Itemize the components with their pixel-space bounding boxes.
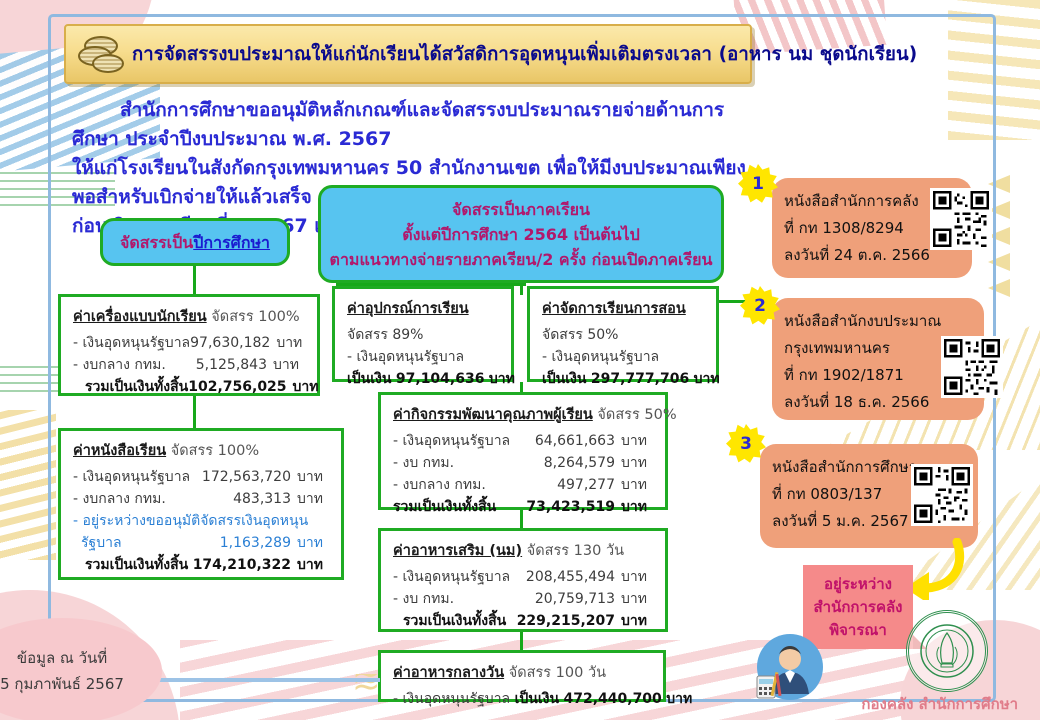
total-amount: 97,104,636 (396, 371, 485, 387)
table-row: - งบกลาง กทม. 497,277 บาท (393, 474, 655, 496)
qr-code-icon (933, 191, 989, 247)
qr-code-icon[interactable] (911, 464, 973, 526)
row-unit: บาท (615, 452, 655, 474)
box-activity[interactable]: ค่ากิจกรรมพัฒนาคุณภาพผู้เรียน จัดสรร 50%… (378, 392, 668, 510)
total-label: เป็นเงิน (347, 371, 391, 387)
box-equipment-header: ค่าอุปกรณ์การเรียน (347, 297, 501, 320)
row-amount: 174,210,322 (193, 554, 291, 576)
branch-left-label: จัดสรรเป็นปีการศึกษา (120, 230, 270, 255)
table-row: - งบกลาง กทม. 5,125,843 บาท (73, 354, 307, 376)
reference-2-lines: หนังสือสำนักงบประมาณ กรุงเทพมหานคร ที่ ก… (784, 308, 941, 416)
total-unit: บาท (694, 371, 720, 387)
total-label: เป็นเงิน (542, 371, 586, 387)
branch-right-line-1: จัดสรรเป็นภาคเรียน (452, 197, 590, 222)
branch-left-pre: จัดสรรเป็น (120, 233, 193, 252)
row-unit: บาท (291, 554, 331, 576)
table-row-total: รวมเป็นเงินทั้งสิ้น 102,756,025 บาท (73, 376, 307, 398)
table-row-total: รวมเป็นเงินทั้งสิ้น 229,215,207 บาท (393, 610, 655, 632)
callout-line-3: พิจารณา (829, 619, 887, 642)
box-milk-header: ค่าอาหารเสริม (นม) จัดสรร 130 วัน (393, 539, 655, 562)
row-amount: 483,313 (233, 488, 291, 510)
footer-org: กองคลัง สำนักการศึกษา (861, 692, 1018, 716)
row-label: - งบ กทม. (393, 452, 454, 474)
row-label: รวมเป็นเงินทั้งสิ้น (73, 554, 188, 576)
bangkok-seal-icon (906, 610, 988, 692)
table-row-pending-amount: รัฐบาล 1,163,289 บาท (73, 532, 331, 554)
badge-3: 3 (726, 424, 766, 464)
row-unit: บาท (615, 474, 655, 496)
row-amount: 497,277 (557, 474, 615, 496)
box-uniform-pct: จัดสรร 100% (211, 309, 299, 325)
table-row-pending: - อยู่ระหว่างขออนุมัติจัดสรรเงินอุดหนุน (73, 510, 331, 532)
row-label: - อยู่ระหว่างขออนุมัติจัดสรรเงินอุดหนุน (73, 510, 308, 532)
row-unit: บาท (615, 610, 655, 632)
row-unit: บาท (287, 376, 319, 398)
box-teaching-total: เป็นเงิน 297,777,706 บาท (542, 368, 706, 390)
reference-1-line-1: หนังสือสำนักการคลัง (784, 188, 930, 215)
row-unit: บาท (615, 430, 655, 452)
reference-2-line-1: หนังสือสำนักงบประมาณ (784, 308, 941, 335)
box-equipment[interactable]: ค่าอุปกรณ์การเรียน จัดสรร 89% - เงินอุดห… (332, 286, 514, 382)
title-banner: การจัดสรรงบประมาณให้แก่นักเรียนได้สวัสดิ… (64, 24, 752, 84)
box-equipment-title: ค่าอุปกรณ์การเรียน (347, 301, 469, 317)
box-lunch-source: - เงินอุดหนุนรัฐบาล (393, 691, 510, 707)
badge-1: 1 (738, 164, 778, 204)
box-uniform-title: ค่าเครื่องแบบนักเรียน (73, 309, 207, 325)
table-row: - เงินอุดหนุนรัฐบาล 208,455,494 บาท (393, 566, 655, 588)
reference-card-2[interactable]: หนังสือสำนักงบประมาณ กรุงเทพมหานคร ที่ ก… (772, 298, 984, 420)
table-row-total: รวมเป็นเงินทั้งสิ้น 73,423,519 บาท (393, 496, 655, 518)
box-lunch-pct: จัดสรร 100 วัน (509, 665, 606, 681)
box-teaching-source: - เงินอุดหนุนรัฐบาล (542, 346, 706, 368)
row-amount: 229,215,207 (517, 610, 615, 632)
qr-code-icon[interactable] (930, 188, 992, 250)
box-teaching-pct: จัดสรร 50% (542, 324, 706, 346)
row-label: - เงินอุดหนุนรัฐบาล (73, 466, 190, 488)
reference-1-lines: หนังสือสำนักการคลัง ที่ กท 1308/8294 ลงว… (784, 188, 930, 269)
reference-2-line-2: กรุงเทพมหานคร (784, 335, 941, 362)
box-books-title: ค่าหนังสือเรียน (73, 443, 166, 459)
total-unit: บาท (489, 371, 515, 387)
branch-right-line-2: ตั้งแต่ปีการศึกษา 2564 เป็นต้นไป (402, 222, 639, 247)
row-amount: 8,264,579 (544, 452, 615, 474)
row-label: รวมเป็นเงินทั้งสิ้น (393, 496, 496, 518)
box-milk[interactable]: ค่าอาหารเสริม (นม) จัดสรร 130 วัน - เงิน… (378, 528, 668, 632)
box-lunch-title: ค่าอาหารกลางวัน (393, 665, 504, 681)
branch-right-line-3: ตามแนวทางจ่ายรายภาคเรียน/2 ครั้ง ก่อนเปิ… (330, 247, 713, 272)
reference-1-line-2: ที่ กท 1308/8294 (784, 215, 930, 242)
total-amount: 297,777,706 (591, 371, 689, 387)
row-label: - เงินอุดหนุนรัฐบาล (393, 430, 510, 452)
row-label: - งบกลาง กทม. (73, 488, 166, 510)
box-lunch[interactable]: ค่าอาหารกลางวัน จัดสรร 100 วัน - เงินอุด… (378, 650, 666, 702)
badge-2: 2 (740, 286, 780, 326)
table-row: - งบกลาง กทม. 483,313 บาท (73, 488, 331, 510)
decor-blue-rule (150, 678, 380, 682)
row-unit: บาท (270, 332, 307, 354)
total-unit: บาท (666, 691, 692, 707)
box-books[interactable]: ค่าหนังสือเรียน จัดสรร 100% - เงินอุดหนุ… (58, 428, 344, 580)
qr-code-icon (944, 339, 1000, 395)
table-row: - งบ กทม. 8,264,579 บาท (393, 452, 655, 474)
date-value: 5 กุมภาพันธ์ 2567 (0, 671, 124, 697)
intro-line-1: สำนักการศึกษาขออนุมัติหลักเกณฑ์และจัดสรร… (72, 96, 752, 154)
qr-code-icon (914, 467, 970, 523)
box-activity-pct: จัดสรร 50% (597, 407, 676, 423)
box-activity-header: ค่ากิจกรรมพัฒนาคุณภาพผู้เรียน จัดสรร 50% (393, 403, 655, 426)
table-row: - เงินอุดหนุนรัฐบาล 172,563,720 บาท (73, 466, 331, 488)
box-teaching[interactable]: ค่าจัดการเรียนการสอน จัดสรร 50% - เงินอุ… (527, 286, 719, 382)
connector-left-books (193, 396, 196, 428)
box-teaching-title: ค่าจัดการเรียนการสอน (542, 301, 686, 317)
branch-left-year[interactable]: จัดสรรเป็นปีการศึกษา (100, 218, 290, 266)
row-amount: 102,756,025 (188, 376, 286, 398)
row-amount: 97,630,182 (190, 332, 270, 354)
box-lunch-header: ค่าอาหารกลางวัน จัดสรร 100 วัน (393, 661, 653, 684)
box-uniform-header: ค่าเครื่องแบบนักเรียน จัดสรร 100% (73, 305, 307, 328)
date-label: ข้อมูล ณ วันที่ (17, 645, 107, 671)
branch-left-link: ปีการศึกษา (193, 233, 270, 252)
row-unit: บาท (267, 354, 307, 376)
row-label: - งบกลาง กทม. (393, 474, 486, 496)
badge-number: 1 (738, 164, 778, 204)
branch-right-semester[interactable]: จัดสรรเป็นภาคเรียน ตั้งแต่ปีการศึกษา 256… (318, 185, 724, 283)
box-teaching-header: ค่าจัดการเรียนการสอน (542, 297, 706, 320)
box-equipment-total: เป็นเงิน 97,104,636 บาท (347, 368, 501, 390)
row-label: รวมเป็นเงินทั้งสิ้น (73, 376, 188, 398)
box-lunch-total: - เงินอุดหนุนรัฐบาล เป็นเงิน 472,440,700… (393, 688, 653, 710)
row-unit: บาท (291, 466, 331, 488)
row-amount: 20,759,713 (535, 588, 615, 610)
page-title: การจัดสรรงบประมาณให้แก่นักเรียนได้สวัสดิ… (132, 40, 917, 69)
infographic-canvas: ≋≋≋ การจัดสรรงบประมาณให้แก่นักเรียนได้สว… (0, 0, 1040, 720)
row-amount: 208,455,494 (526, 566, 615, 588)
reference-3-lines: หนังสือสำนักการศึกษา ที่ กท 0803/137 ลงว… (772, 454, 917, 535)
row-label: - เงินอุดหนุนรัฐบาล (73, 332, 190, 354)
box-equipment-source: - เงินอุดหนุนรัฐบาล (347, 346, 501, 368)
connector-left-trunk (193, 266, 196, 294)
curved-arrow-icon (905, 538, 965, 600)
reference-2-line-4: ลงวันที่ 18 ธ.ค. 2566 (784, 389, 941, 416)
box-milk-pct: จัดสรร 130 วัน (527, 543, 624, 559)
box-activity-title: ค่ากิจกรรมพัฒนาคุณภาพผู้เรียน (393, 407, 593, 423)
box-equipment-pct: จัดสรร 89% (347, 324, 501, 346)
row-label: รัฐบาล (73, 532, 122, 554)
reference-card-3[interactable]: หนังสือสำนักการศึกษา ที่ กท 0803/137 ลงว… (760, 444, 978, 548)
seal-graphic (919, 623, 975, 679)
reference-2-line-3: ที่ กท 1902/1871 (784, 362, 941, 389)
row-amount: 5,125,843 (196, 354, 267, 376)
row-label: - งบ กทม. (393, 588, 454, 610)
row-label: - เงินอุดหนุนรัฐบาล (393, 566, 510, 588)
table-row: - เงินอุดหนุนรัฐบาล 97,630,182 บาท (73, 332, 307, 354)
reference-1-line-3: ลงวันที่ 24 ต.ค. 2566 (784, 242, 930, 269)
total-amount: 472,440,700 (563, 691, 661, 707)
row-amount: 64,661,663 (535, 430, 615, 452)
row-amount: 1,163,289 (220, 532, 291, 554)
badge-number: 2 (740, 286, 780, 326)
row-unit: บาท (615, 566, 655, 588)
person-with-calculator-icon (755, 632, 825, 702)
row-unit: บาท (291, 532, 331, 554)
badge-number: 3 (726, 424, 766, 464)
row-unit: บาท (615, 588, 655, 610)
total-label: เป็นเงิน (515, 691, 559, 707)
row-amount: 73,423,519 (526, 496, 615, 518)
table-row: - เงินอุดหนุนรัฐบาล 64,661,663 บาท (393, 430, 655, 452)
row-unit: บาท (291, 488, 331, 510)
reference-card-1[interactable]: หนังสือสำนักการคลัง ที่ กท 1308/8294 ลงว… (772, 178, 972, 278)
table-row: - งบ กทม. 20,759,713 บาท (393, 588, 655, 610)
table-row-total: รวมเป็นเงินทั้งสิ้น 174,210,322 บาท (73, 554, 331, 576)
box-books-pct: จัดสรร 100% (171, 443, 259, 459)
row-amount: 172,563,720 (202, 466, 291, 488)
box-uniform[interactable]: ค่าเครื่องแบบนักเรียน จัดสรร 100% - เงิน… (58, 294, 320, 396)
row-unit: บาท (615, 496, 655, 518)
row-label: รวมเป็นเงินทั้งสิ้น (393, 610, 506, 632)
reference-3-line-3: ลงวันที่ 5 ม.ค. 2567 (772, 508, 917, 535)
row-label: - งบกลาง กทม. (73, 354, 166, 376)
reference-3-line-2: ที่ กท 0803/137 (772, 481, 917, 508)
box-books-header: ค่าหนังสือเรียน จัดสรร 100% (73, 439, 331, 462)
callout-line-2: สำนักการคลัง (813, 596, 902, 619)
reference-3-line-1: หนังสือสำนักการศึกษา (772, 454, 917, 481)
callout-line-1: อยู่ระหว่าง (824, 573, 892, 596)
box-milk-title: ค่าอาหารเสริม (นม) (393, 543, 522, 559)
connector-lunch (520, 632, 523, 652)
qr-code-icon[interactable] (941, 336, 1003, 398)
coins-icon (76, 34, 124, 74)
